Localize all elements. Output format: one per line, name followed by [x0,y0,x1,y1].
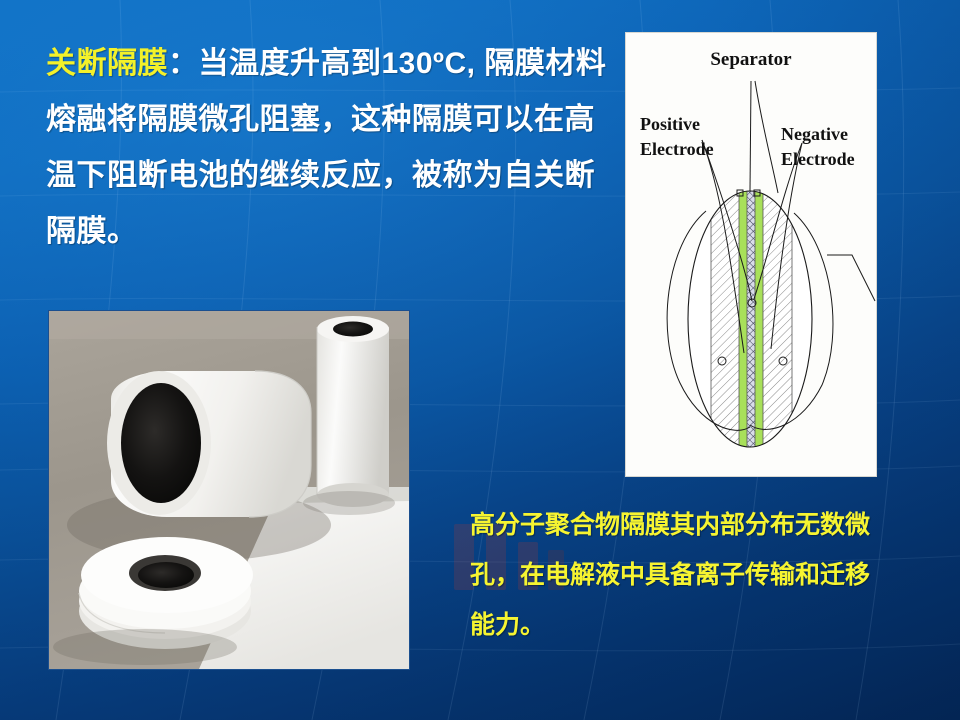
label-positive-electrode-line1: Positive [640,114,700,134]
label-separator: Separator [710,49,792,70]
photo-illustration [49,311,409,669]
label-positive-electrode-line2: Electrode [640,139,714,159]
slide-canvas: 关断隔膜：当温度升高到130ºC, 隔膜材料熔融将隔膜微孔阻塞，这种隔膜可以在高… [0,0,960,720]
label-negative-electrode-line2: Electrode [781,149,855,169]
headline-paragraph: 关断隔膜：当温度升高到130ºC, 隔膜材料熔融将隔膜微孔阻塞，这种隔膜可以在高… [46,36,612,260]
separator-film-photo [48,310,410,670]
label-negative-electrode-line1: Negative [781,124,848,144]
headline-keyword: 关断隔膜 [46,47,168,80]
diagram-svg: Separator Positive Electrode Negative El… [626,33,876,476]
battery-cross-section-diagram: Separator Positive Electrode Negative El… [625,32,877,477]
caption-line-1: 高分子聚合物隔膜其内部分布无 [470,511,820,539]
headline-line-1: ：当温度升高到130ºC, 隔 [168,47,515,80]
caption-paragraph: 高分子聚合物隔膜其内部分布无数微孔，在电解液中具备离子传输和迁移能力。 [470,500,885,650]
